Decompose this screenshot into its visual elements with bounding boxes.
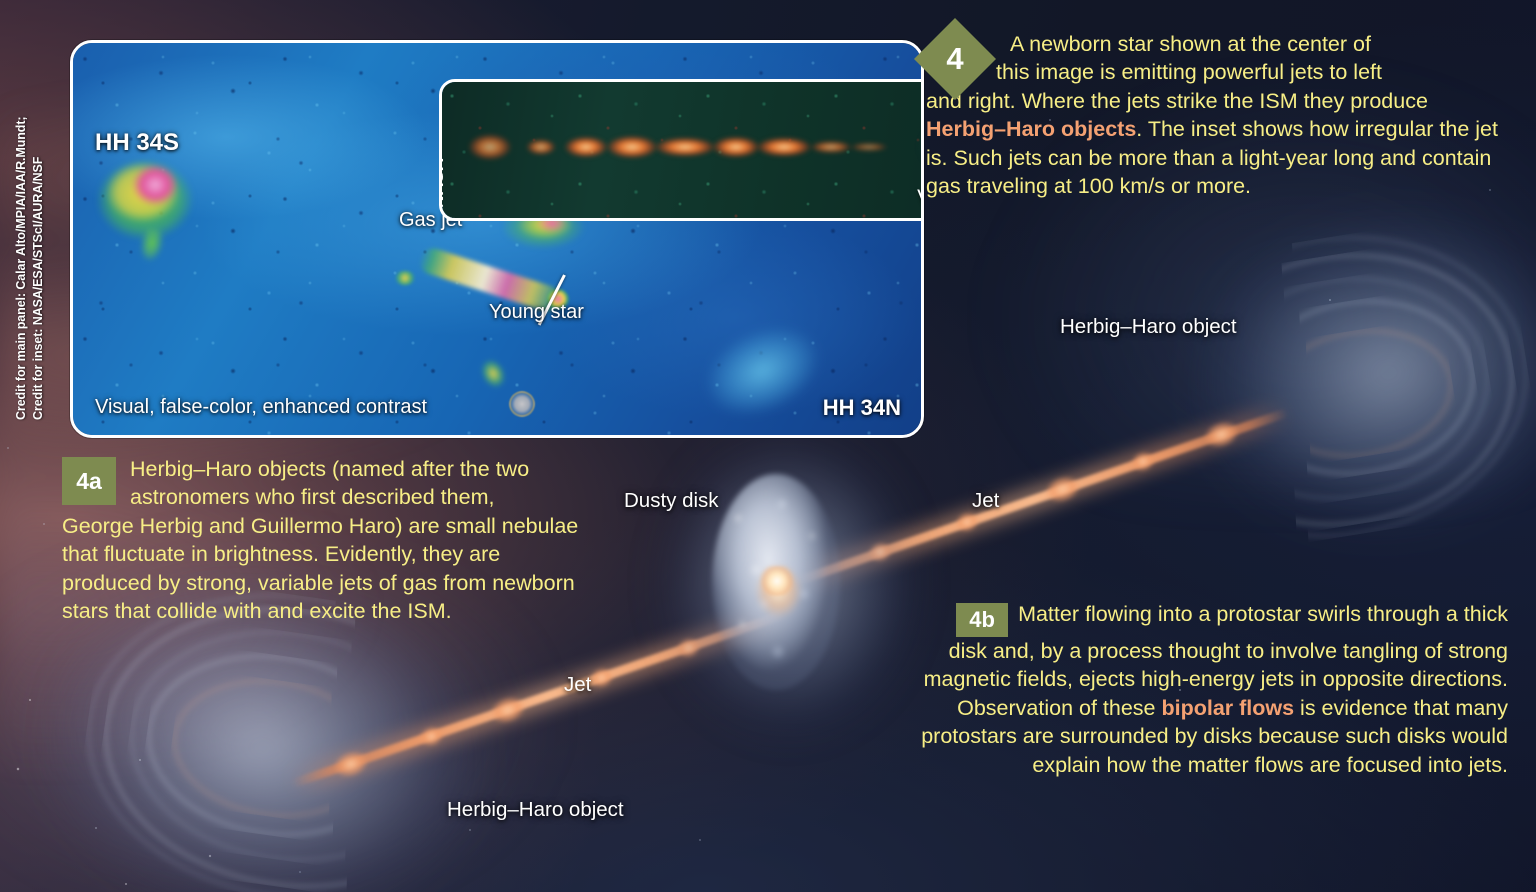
inset-jet-knot [468, 132, 512, 162]
badge-4a: 4a [62, 457, 116, 505]
badge-4b: 4b [956, 603, 1008, 637]
callout-4a-line1: Herbig–Haro objects (named after the two [62, 455, 582, 483]
foreground-star-dot [509, 391, 535, 417]
label-nasa-credit: NASA [439, 158, 448, 208]
label-young-star: Young star [489, 301, 584, 324]
callout-4-body-pre: and right. Where the jets strike the ISM… [926, 89, 1428, 113]
callout-4b: 4bMatter flowing into a protostar swirls… [916, 600, 1508, 779]
credit-block: Credit for main panel: Calar Alto/MPIA/I… [14, 60, 44, 420]
label-inset-mode: Visual [917, 186, 924, 210]
protostar-core [760, 566, 794, 596]
inset-jet [468, 134, 904, 160]
label-herbig-haro-right: Herbig–Haro object [1060, 315, 1237, 339]
label-jet-left: Jet [564, 673, 591, 697]
label-imaging-mode: Visual, false-color, enhanced contrast [95, 396, 427, 419]
callout-4a-line2: astronomers who first described them, [62, 483, 582, 511]
label-jet-right: Jet [972, 489, 999, 513]
callout-4-highlight: Herbig–Haro objects [926, 117, 1136, 141]
gas-jet-head [395, 271, 415, 285]
badge-4-number: 4 [926, 30, 984, 88]
callout-4a-body: George Herbig and Guillermo Haro) are sm… [62, 512, 582, 626]
credit-inset: Credit for inset: NASA/ESA/STScI/AURA/NS… [31, 157, 45, 420]
inset-hst-panel: NASA Visual [439, 79, 924, 221]
label-herbig-haro-left: Herbig–Haro object [447, 798, 624, 822]
label-hh34s: HH 34S [95, 129, 179, 157]
callout-4: 4 A newborn star shown at the center of … [926, 30, 1506, 200]
callout-4b-highlight: bipolar flows [1161, 696, 1294, 720]
label-hh34n: HH 34N [823, 395, 901, 421]
callout-4-line2: this image is emitting powerful jets to … [926, 58, 1506, 86]
inset-jet-knot [654, 136, 716, 158]
inset-jet-knot [756, 136, 812, 158]
callout-4a: 4a Herbig–Haro objects (named after the … [62, 455, 582, 625]
inset-jet-knot [564, 135, 608, 159]
label-dusty-disk: Dusty disk [624, 489, 719, 513]
inset-jet-knot [810, 140, 852, 154]
inset-jet-knot [526, 138, 556, 156]
callout-4-body: and right. Where the jets strike the ISM… [926, 87, 1506, 201]
herbig-haro-figure: Herbig–Haro object Herbig–Haro object Du… [0, 0, 1536, 892]
main-observation-panel: HH 34S HH 34N Visual, false-color, enhan… [70, 40, 924, 438]
callout-4-line1: A newborn star shown at the center of [926, 30, 1506, 58]
inset-jet-knot [606, 134, 658, 160]
credit-main-panel: Credit for main panel: Calar Alto/MPIA/I… [14, 117, 28, 420]
inset-jet-knot [712, 135, 760, 159]
inset-star-halo [904, 116, 924, 178]
inset-jet-knot [850, 142, 888, 152]
